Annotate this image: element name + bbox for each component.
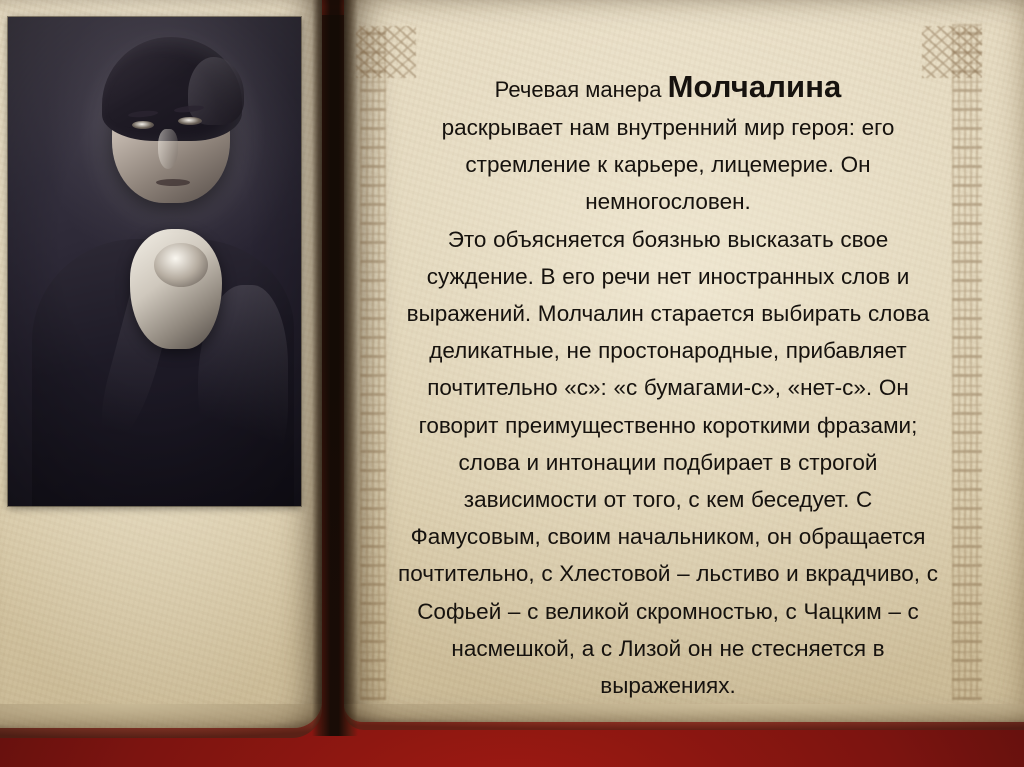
slide-canvas: Речевая манера Молчалина раскрывает нам … (0, 0, 1024, 767)
book-gutter-shadow (312, 0, 358, 736)
headline-lead: Речевая манера (495, 77, 668, 102)
body-paragraph-1: раскрывает нам внутренний мир героя: его… (396, 109, 940, 221)
body-paragraph-2: Это объясняется боязнью высказать свое с… (396, 221, 940, 705)
headline: Речевая манера Молчалина (396, 68, 940, 109)
slide-text-column: Речевая манера Молчалина раскрывает нам … (396, 68, 940, 704)
portrait-photo (8, 17, 301, 506)
left-page (0, 0, 322, 728)
photo-vignette (8, 17, 301, 506)
headline-character-name: Молчалина (668, 69, 842, 104)
